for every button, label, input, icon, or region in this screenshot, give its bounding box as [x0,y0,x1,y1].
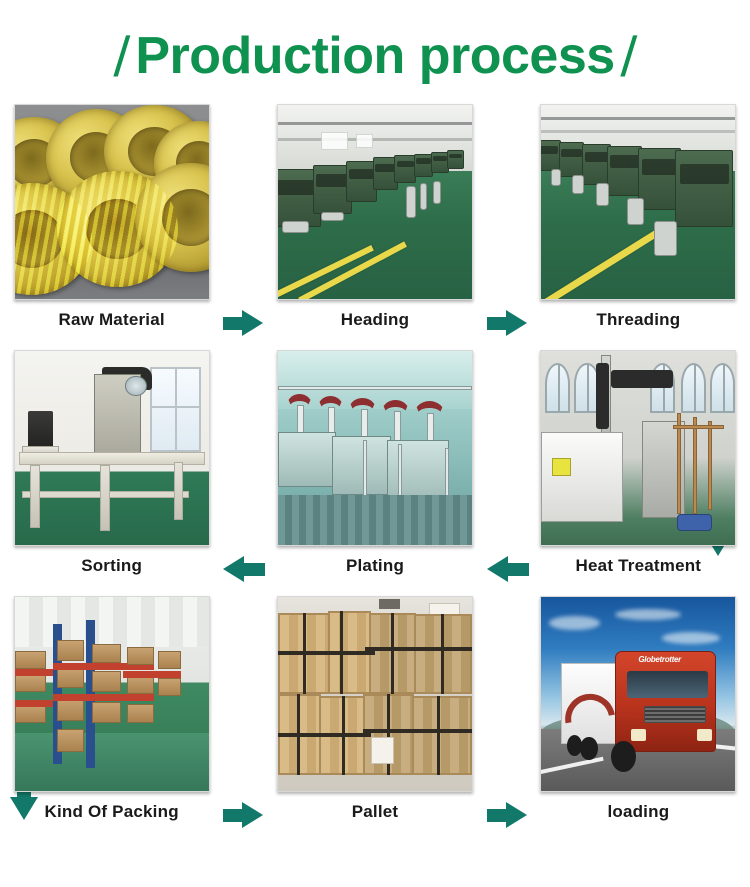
truck-badge-text: Globetrotter [638,655,681,664]
page-header: / Production process / [0,0,750,104]
flow-row-2: Sorting [0,350,750,596]
arrow-right-icon-4 [487,802,527,828]
flow-step-label: Threading [596,311,680,330]
plating-line-photo [277,350,473,546]
flow-step-heat-treatment[interactable]: Heat Treatment [527,350,750,576]
arrow-left-icon-2 [487,556,527,582]
arrow-right-icon-2 [487,310,527,336]
production-flow: Raw Material [0,104,750,842]
flow-row-3: Kind Of Packing [0,596,750,842]
flow-step-label: Sorting [81,557,142,576]
flow-row-1: Raw Material [0,104,750,350]
flow-step-threading[interactable]: Threading [527,104,750,330]
warehouse-racking-photo [14,596,210,792]
flow-step-loading[interactable]: Globetrotter loading [527,596,750,822]
threading-machines-photo [540,104,736,300]
delivery-truck-photo: Globetrotter [540,596,736,792]
slash-left-decoration: / [107,24,136,89]
flow-step-label: Pallet [352,803,399,822]
heading-machines-photo [277,104,473,300]
arrow-right-icon-1 [223,310,263,336]
flow-step-raw-material[interactable]: Raw Material [0,104,223,330]
flow-step-sorting[interactable]: Sorting [0,350,223,576]
yellow-wire-coils-photo [14,104,210,300]
arrow-right-icon-3 [223,802,263,828]
flow-step-label: loading [607,803,669,822]
flow-step-label: Plating [346,557,404,576]
flow-step-label: Kind Of Packing [44,803,178,822]
flow-step-heading[interactable]: Heading [263,104,486,330]
page-title: / Production process / [108,24,641,89]
flow-step-pallet[interactable]: Pallet [263,596,486,822]
flow-step-label: Heading [341,311,409,330]
arrow-left-icon-1 [223,556,263,582]
flow-step-label: Raw Material [58,311,164,330]
page-title-text: Production process [135,26,614,86]
flow-step-plating[interactable]: Plating [263,350,486,576]
slash-right-decoration: / [614,24,643,89]
flow-step-kind-of-packing[interactable]: Kind Of Packing [0,596,223,822]
heat-treatment-photo [540,350,736,546]
wooden-crates-photo [277,596,473,792]
sorting-lab-photo [14,350,210,546]
flow-step-label: Heat Treatment [576,557,702,576]
